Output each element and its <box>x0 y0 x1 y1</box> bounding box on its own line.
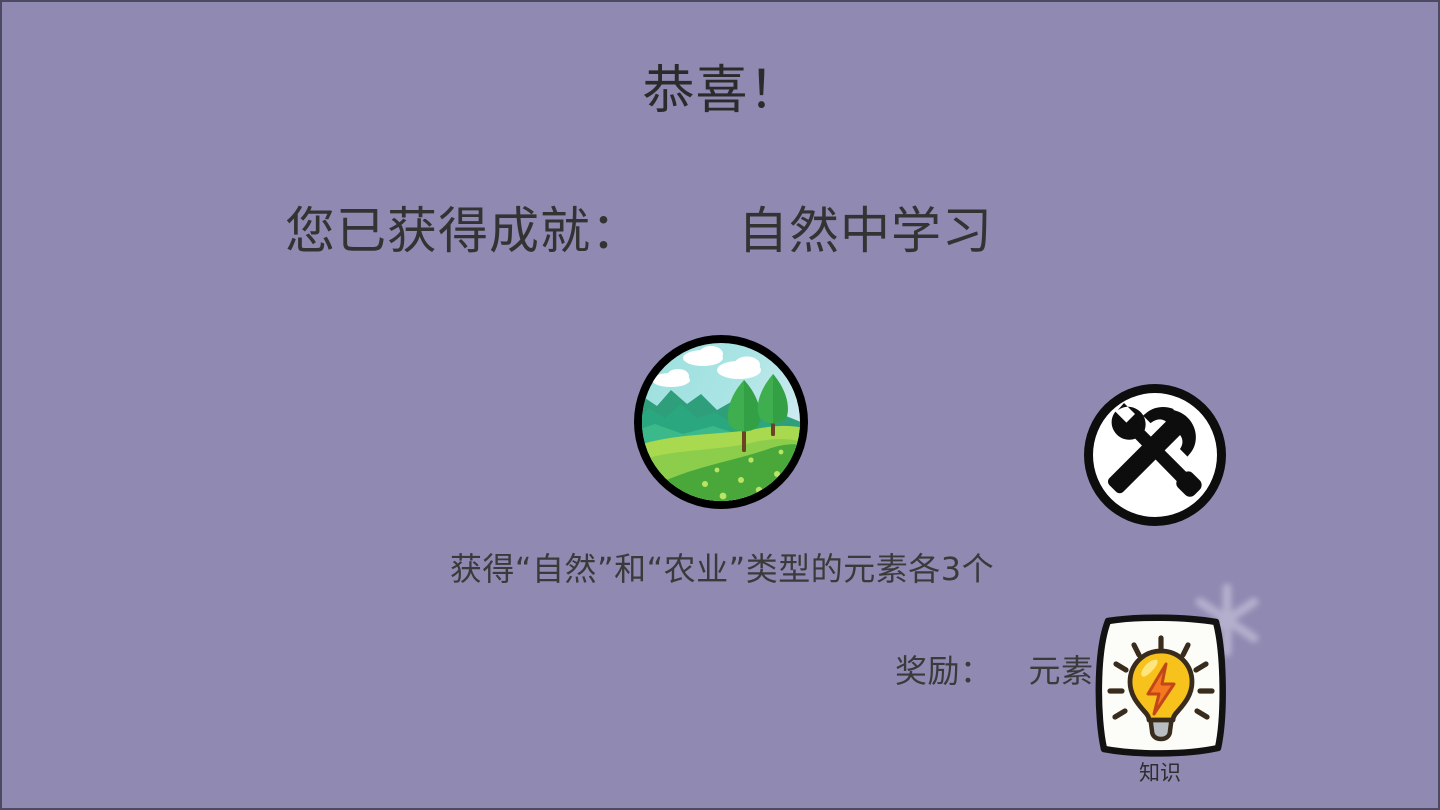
reward-item-caption: 知识 <box>1092 759 1228 787</box>
reward-line: 奖励：元素 <box>895 650 1094 692</box>
achievement-prefix-label: 您已获得成就： <box>285 202 642 260</box>
reward-value: 元素 <box>1029 652 1094 690</box>
hammer-wrench-tools-icon <box>1081 381 1229 529</box>
reward-label: 奖励： <box>895 652 993 690</box>
nature-landscape-icon <box>631 332 811 512</box>
achievement-name: 自然中学习 <box>738 202 993 260</box>
lightbulb-knowledge-icon <box>1088 612 1234 760</box>
congratulations-title: 恭喜！ <box>2 60 1440 122</box>
achievement-overlay-screen: 恭喜！ 您已获得成就：自然中学习 <box>0 0 1440 810</box>
achievement-headline: 您已获得成就：自然中学习 <box>285 200 993 262</box>
